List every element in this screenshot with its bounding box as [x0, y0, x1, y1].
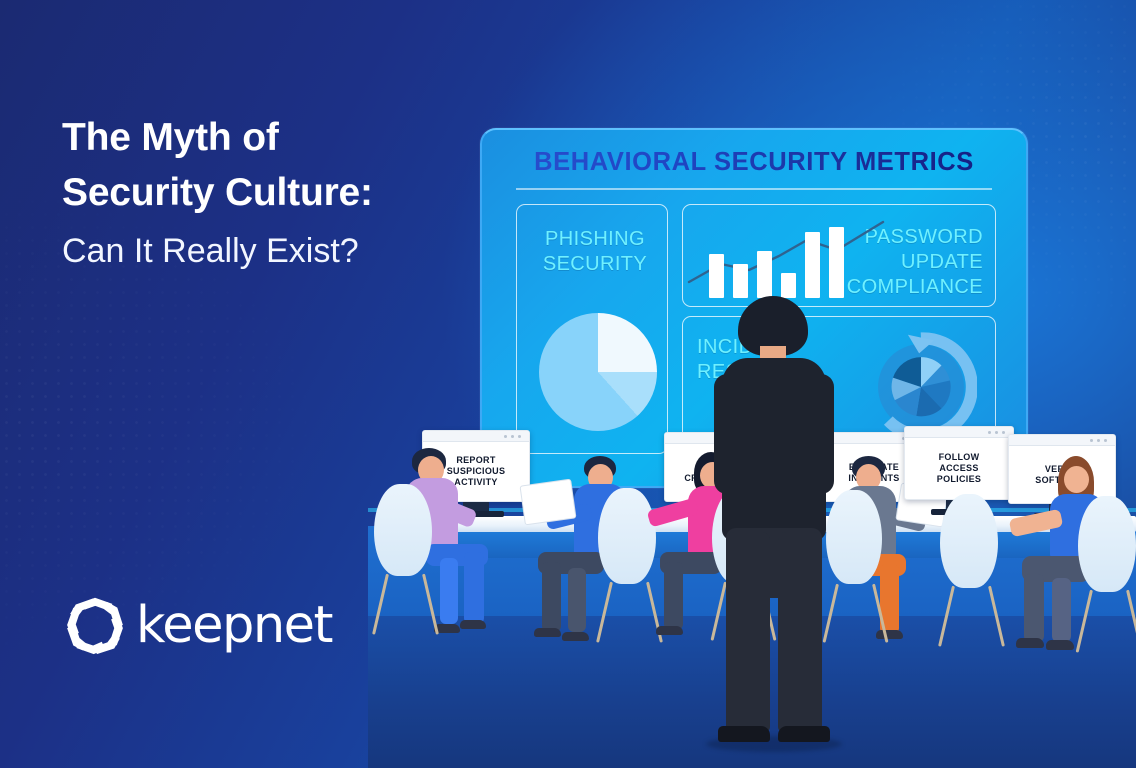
person-5-shoe-2 — [1046, 640, 1074, 650]
keepnet-pinwheel-icon — [64, 594, 126, 656]
card-phishing-security: PHISHING SECURITY — [516, 204, 668, 454]
phishing-pie-highlight — [539, 313, 657, 431]
chair-4 — [940, 494, 998, 588]
bar-5 — [805, 232, 820, 298]
person-1-shin — [464, 552, 484, 624]
person-5-head — [1064, 466, 1089, 493]
person-5 — [1028, 456, 1136, 656]
person-1-shoe-1 — [460, 620, 486, 629]
person-1-chair-leg-2 — [422, 574, 439, 635]
person-2-shoe-1 — [534, 628, 561, 637]
manager-leg-right — [778, 532, 822, 732]
monitor-screen-4[interactable]: FOLLOW ACCESS POLICIES — [904, 426, 1014, 500]
person-4-shoe — [876, 630, 903, 639]
bar-1 — [709, 254, 724, 298]
bar-6 — [829, 227, 844, 298]
bar-2 — [733, 264, 748, 298]
card-password-update-compliance: PASSWORD UPDATE COMPLIANCE — [682, 204, 996, 307]
brand-wordmark: keepnet — [136, 600, 332, 651]
person-2-shoe-2 — [562, 632, 589, 641]
manager-torso — [722, 358, 826, 540]
manager-shoe-right — [778, 726, 830, 742]
person-1-chair — [374, 484, 432, 576]
person-5-shin — [1024, 574, 1044, 642]
person-5-chair — [1078, 496, 1136, 592]
monitor-titlebar-5 — [1009, 435, 1115, 446]
standing-manager — [712, 296, 836, 766]
manager-shoe-left — [718, 726, 770, 742]
bar-3 — [757, 251, 772, 298]
banner-canvas: The Myth of Security Culture: Can It Rea… — [0, 0, 1136, 768]
person-1 — [382, 448, 492, 638]
password-bar-chart — [701, 214, 891, 298]
dashboard-divider — [516, 188, 992, 190]
card-phishing-label: PHISHING SECURITY — [535, 227, 655, 277]
monitor-titlebar-4 — [905, 427, 1013, 438]
dashboard-title: BEHAVIORAL SECURITY METRICS — [482, 148, 1026, 177]
person-5-shoe-1 — [1016, 638, 1044, 648]
person-5-shin-2 — [1052, 578, 1071, 642]
person-1-shin-2 — [440, 558, 458, 624]
person-5-chair-leg-2 — [1126, 590, 1136, 653]
monitor-text-4: FOLLOW ACCESS POLICIES — [905, 438, 1013, 499]
brand-logo[interactable]: keepnet — [64, 594, 332, 656]
bar-4 — [781, 273, 796, 298]
person-2-shin — [542, 562, 561, 632]
person-2-chair-leg-1 — [596, 582, 613, 643]
person-5-chair-leg-1 — [1076, 590, 1093, 653]
person-2-shin-2 — [568, 568, 586, 632]
person-3-shin — [664, 562, 683, 630]
monitor-titlebar-1 — [423, 431, 529, 442]
person-2 — [540, 456, 660, 646]
person-2-chair — [598, 488, 656, 584]
person-3-shoe — [656, 626, 683, 635]
person-2-tablet[interactable] — [519, 479, 576, 526]
manager-leg-left — [726, 532, 770, 732]
illustration: BEHAVIORAL SECURITY METRICS PHISHING SEC… — [368, 96, 1136, 768]
